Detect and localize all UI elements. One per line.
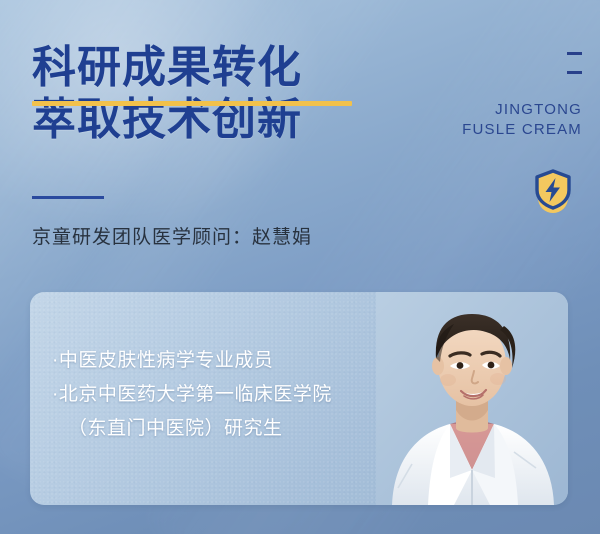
title-block: 科研成果转化 萃取技术创新	[32, 42, 302, 146]
list-item: ·北京中医药大学第一临床医学院	[52, 378, 422, 412]
page-title-line-1: 科研成果转化	[32, 42, 302, 94]
title-underline-accent	[32, 101, 352, 106]
credentials-list: ·中医皮肤性病学专业成员 ·北京中医药大学第一临床医学院 （东直门中医院）研究生	[52, 344, 422, 446]
brand-name: JINGTONG FUSLE CREAM	[442, 100, 582, 140]
credentials-card: ·中医皮肤性病学专业成员 ·北京中医药大学第一临床医学院 （东直门中医院）研究生	[30, 292, 568, 505]
poster-header: 科研成果转化 萃取技术创新 京童研发团队医学顾问：赵慧娟 JINGTONG FU…	[0, 0, 600, 290]
doctor-portrait-image	[376, 292, 568, 505]
brand-name-line-2: FUSLE CREAM	[442, 120, 582, 140]
brand-block: JINGTONG FUSLE CREAM	[442, 52, 582, 140]
dash-mark-icon	[567, 52, 582, 55]
dash-mark-icon	[567, 71, 582, 74]
promo-poster: 科研成果转化 萃取技术创新 京童研发团队医学顾问：赵慧娟 JINGTONG FU…	[0, 0, 600, 534]
subtitle-divider	[32, 196, 104, 199]
subtitle-text: 京童研发团队医学顾问：赵慧娟	[32, 225, 312, 251]
list-item: ·中医皮肤性病学专业成员	[52, 344, 422, 378]
shield-lightning-icon	[530, 168, 576, 216]
brand-name-line-1: JINGTONG	[495, 101, 582, 118]
list-item: （东直门中医院）研究生	[52, 412, 422, 446]
brand-dashes	[442, 52, 582, 74]
